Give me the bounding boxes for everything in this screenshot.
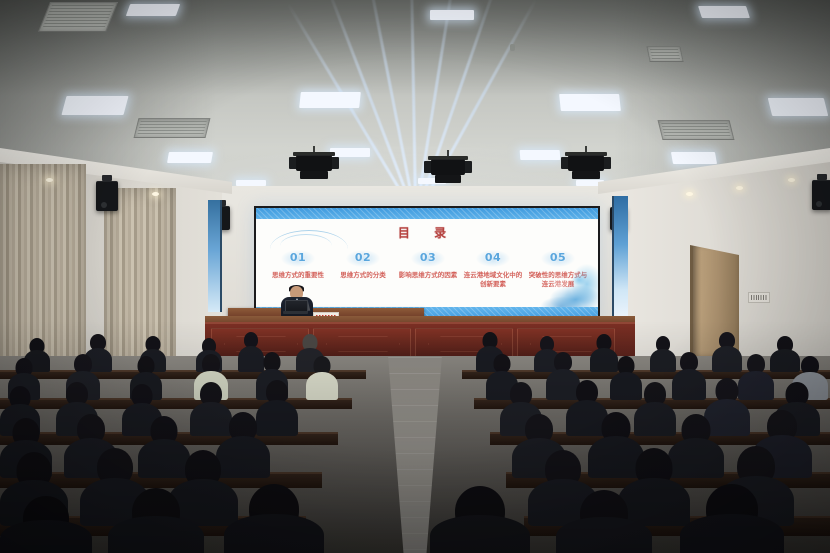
conference-hall-photo: 目 录 01 思维方式的重要性 02 思维方式的分类 xyxy=(0,0,830,553)
toc-number: 02 xyxy=(355,251,371,264)
toc-label: 思维方式的重要性 xyxy=(268,271,328,280)
toc-label: 思维方式的分类 xyxy=(333,271,393,280)
toc-number: 01 xyxy=(290,251,306,264)
speaker-side-right xyxy=(464,161,472,173)
ceiling-air-vent xyxy=(646,46,683,62)
toc-number-wrap: 03 xyxy=(398,248,458,270)
speaker-lower-module xyxy=(572,171,600,179)
recessed-downlight xyxy=(46,178,53,182)
speaker-body xyxy=(568,155,604,171)
toc-number: 03 xyxy=(420,251,436,264)
bench-row xyxy=(0,398,352,409)
ceiling-panel-light xyxy=(520,150,561,160)
hanging-speaker-cluster xyxy=(289,146,339,182)
ceiling-panel-light xyxy=(61,96,128,115)
person-torso xyxy=(680,514,784,553)
toc-item: 03 影响思维方式的因素 xyxy=(398,248,458,288)
ceiling-panel-light xyxy=(126,4,180,16)
audience-member xyxy=(0,496,92,553)
speaker-body xyxy=(431,159,466,175)
speaker-body xyxy=(296,155,332,171)
stage-panel-section xyxy=(313,328,411,358)
audience-member xyxy=(672,352,706,400)
audience-member xyxy=(430,486,530,553)
ceiling-air-vent xyxy=(134,118,211,138)
toc-label: 连云港地域文化中的创新要素 xyxy=(463,271,523,288)
recessed-downlight xyxy=(788,178,795,182)
ceiling-panel-light xyxy=(559,94,621,111)
hanging-speaker-cluster xyxy=(561,146,611,182)
toc-label: 影响思维方式的因素 xyxy=(398,271,458,280)
audience-member xyxy=(108,488,204,553)
wall-speaker xyxy=(812,180,830,210)
slide-top-band xyxy=(256,208,598,219)
toc-number-wrap: 02 xyxy=(333,248,393,270)
toc-item: 04 连云港地域文化中的创新要素 xyxy=(463,248,523,288)
room-plaque xyxy=(748,292,770,303)
person-torso xyxy=(556,517,652,553)
slide-title: 目 录 xyxy=(256,224,598,241)
ceiling-panel-light xyxy=(768,98,828,116)
person-torso xyxy=(108,516,204,553)
toc-item: 02 思维方式的分类 xyxy=(333,248,393,288)
stage-window-left xyxy=(208,200,222,312)
audience-member xyxy=(224,484,324,553)
toc-number: 04 xyxy=(485,251,501,264)
toc-number-wrap: 01 xyxy=(268,248,328,270)
audience-member xyxy=(556,490,652,553)
laptop-computer xyxy=(283,300,308,313)
toc-number-wrap: 04 xyxy=(463,248,523,270)
speaker-lower-module xyxy=(300,171,328,179)
blue-splash-graphic xyxy=(518,262,598,310)
recessed-downlight xyxy=(736,186,743,190)
speaker-lower-module xyxy=(435,175,462,183)
stage-window-right xyxy=(612,196,628,316)
audience-member xyxy=(306,356,338,400)
recessed-downlight xyxy=(152,192,159,196)
toc-item: 01 思维方式的重要性 xyxy=(268,248,328,288)
person-torso xyxy=(672,369,706,400)
person-torso xyxy=(0,520,92,553)
ceiling-panel-light xyxy=(671,152,717,164)
ceiling-air-vent xyxy=(38,2,118,32)
ceiling-panel-light xyxy=(299,92,361,108)
laptop-base xyxy=(283,311,308,314)
person-torso xyxy=(224,514,324,553)
ceiling-panel-light xyxy=(698,6,750,18)
hanging-speaker-cluster xyxy=(424,150,472,186)
sprinkler-head xyxy=(510,44,515,51)
person-torso xyxy=(306,372,338,400)
audience-member xyxy=(680,484,784,553)
recessed-downlight xyxy=(686,192,693,196)
person-torso xyxy=(430,515,530,553)
ceiling-panel-light xyxy=(167,152,213,163)
ceiling-air-vent xyxy=(658,120,735,140)
wall-speaker xyxy=(96,181,118,211)
ceiling-panel-light xyxy=(430,10,474,20)
